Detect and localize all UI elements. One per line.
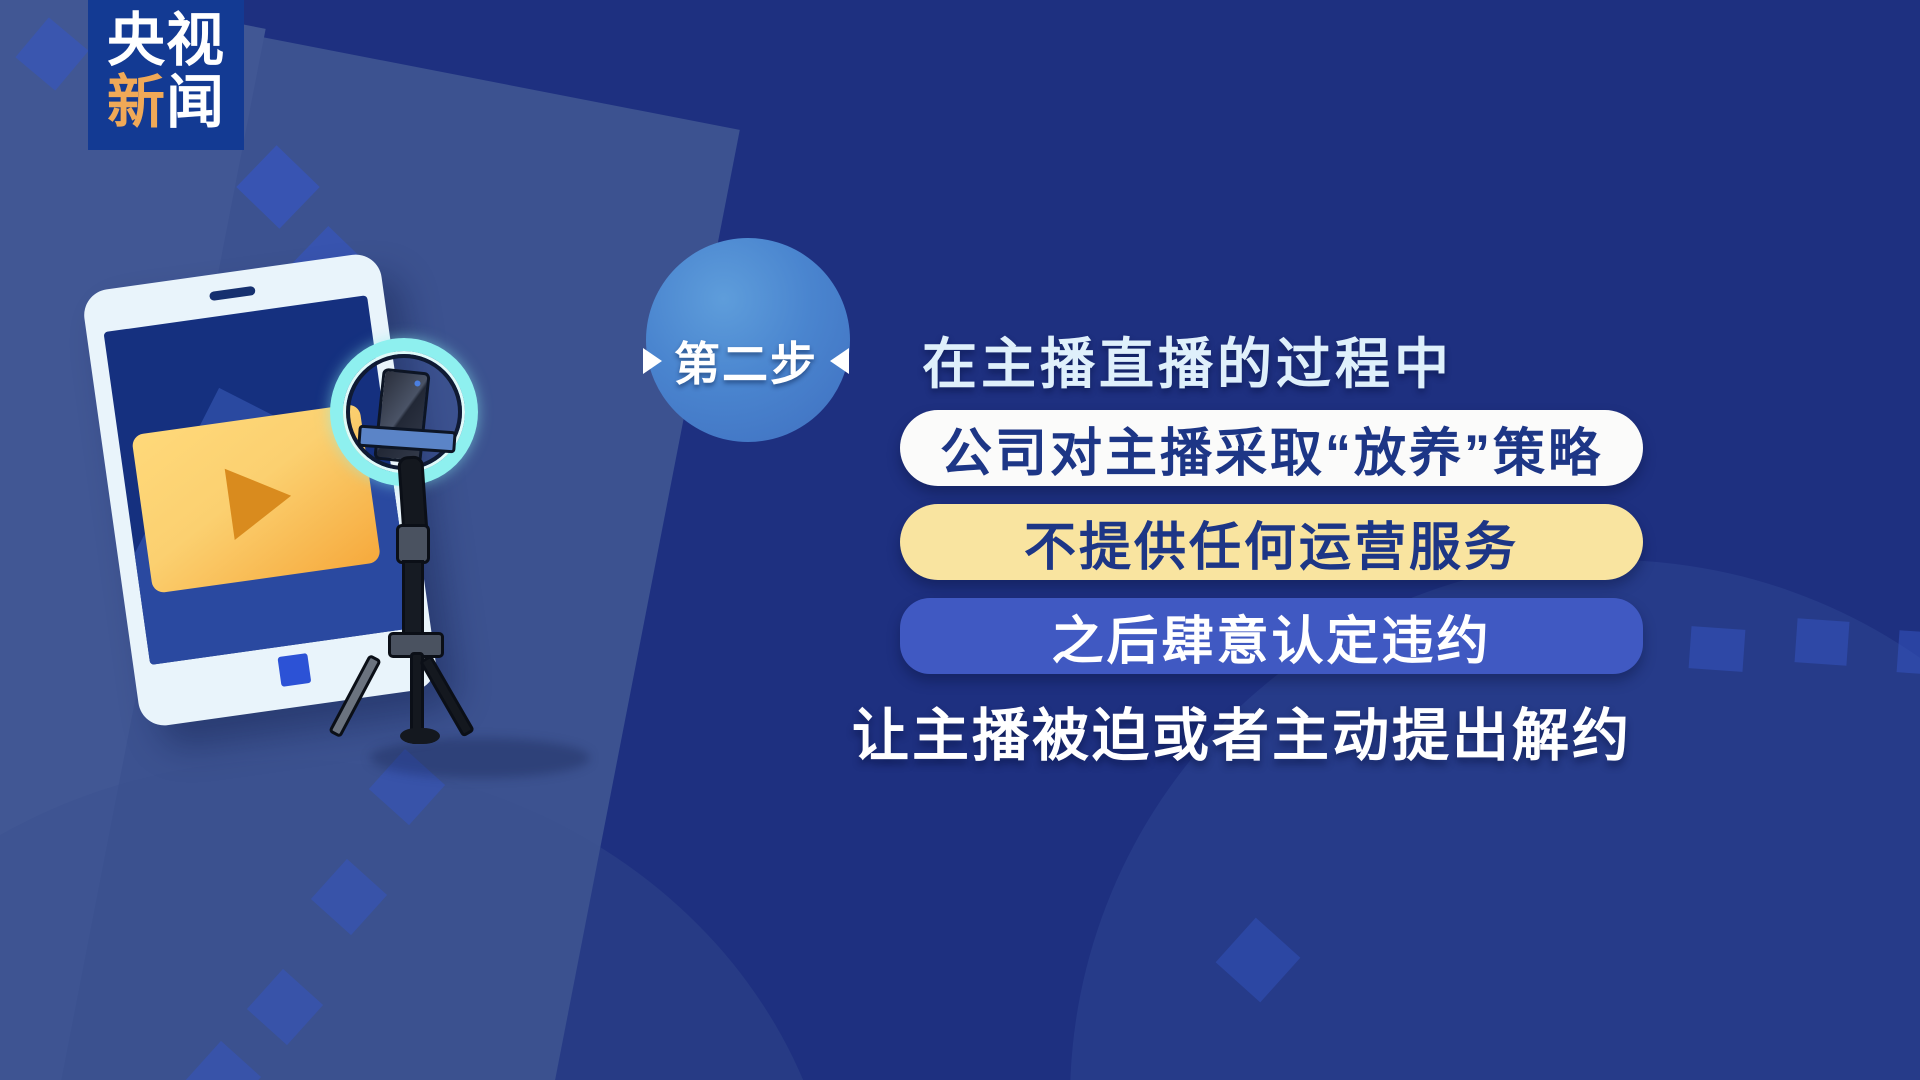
logo-line-top: 央视 (107, 12, 225, 70)
step-badge: 第二步 (596, 330, 896, 392)
cctv-news-logo: 央视 新闻 (88, 0, 244, 150)
tablet-device (81, 251, 439, 728)
logo-char-wen: 闻 (166, 70, 225, 135)
message-line-5: 让主播被迫或者主动提出解约 (852, 690, 1830, 772)
logo-line-bottom: 新闻 (107, 74, 225, 132)
tripod-joint (396, 524, 430, 564)
tripod-leg (419, 654, 475, 737)
tablet-camera-speaker (209, 286, 256, 301)
tripod-pole (402, 560, 424, 640)
play-triangle-right-icon (830, 348, 849, 374)
tripod-foot (400, 728, 440, 744)
play-triangle-icon (225, 460, 296, 540)
message-line-4: 之后肆意认定违约 (900, 598, 1643, 674)
phone-camera-dot (414, 380, 421, 387)
message-line-3: 不提供任何运营服务 (900, 504, 1643, 580)
message-block: 在主播直播的过程中 公司对主播采取“放养”策略 不提供任何运营服务 之后肆意认定… (890, 320, 1830, 772)
step-badge-label: 第二步 (674, 328, 818, 394)
tablet-home-button (277, 653, 311, 687)
logo-char-xin: 新 (107, 70, 166, 135)
tripod-shadow (370, 738, 590, 778)
poster-canvas: 央视 新闻 (0, 0, 1920, 1080)
message-line-1: 在主播直播的过程中 (890, 320, 1830, 398)
message-line-2: 公司对主播采取“放养”策略 (900, 410, 1643, 486)
play-triangle-left-icon (643, 348, 662, 374)
decorative-square (1897, 630, 1920, 676)
illustration-live-streaming-setup (100, 260, 620, 840)
